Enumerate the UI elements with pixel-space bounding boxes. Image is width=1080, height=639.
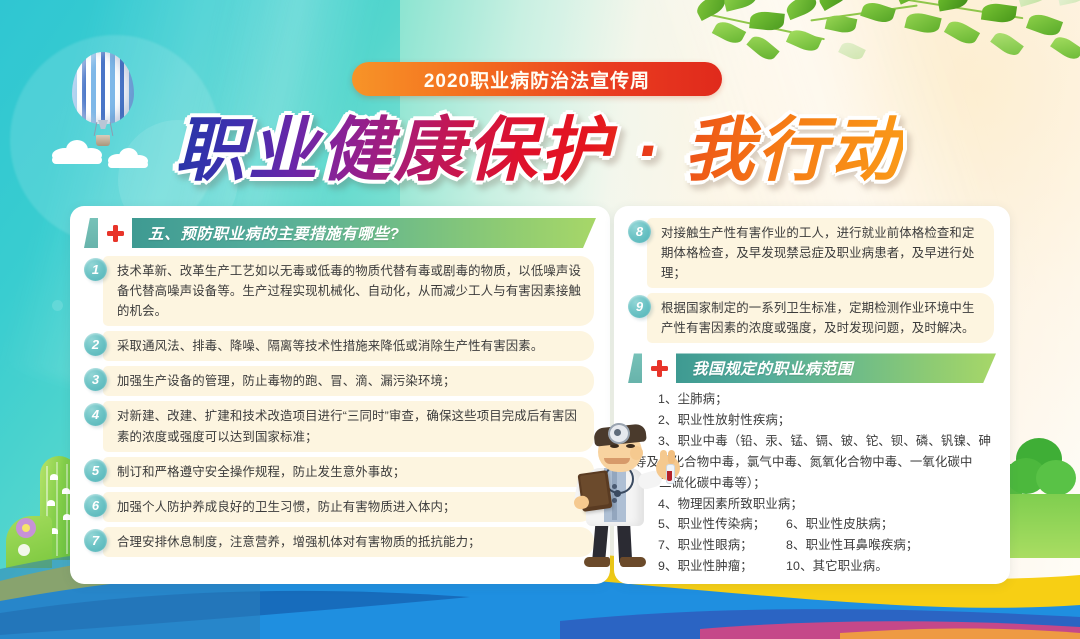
measure-item-text: 对新建、改建、扩建和技术改造项目进行“三同时”审查，确保这些项目完成后有害因素的… (103, 401, 594, 451)
prevention-measures-list-continued: 8对接触生产性有害作业的工人，进行就业前体格检查和定期体格检查，及早发现禁忌症及… (614, 206, 1010, 343)
measure-item: 8对接触生产性有害作业的工人，进行就业前体格检查和定期体格检查，及早发现禁忌症及… (628, 218, 994, 288)
measure-item: 7合理安排休息制度，注意营养，增强机体对有害物质的抵抗能力； (84, 527, 594, 557)
section-header-prevention: 五、预防职业病的主要措施有哪些? (84, 218, 596, 248)
measure-item-text: 合理安排休息制度，注意营养，增强机体对有害物质的抵抗能力； (103, 527, 594, 557)
campaign-banner: 2020职业病防治法宣传周 (352, 62, 722, 96)
section-header-bar: 五、预防职业病的主要措施有哪些? (132, 218, 596, 248)
scope-list-line: 1、尘肺病； (634, 389, 992, 410)
left-content-card: 五、预防职业病的主要措施有哪些? 1技术革新、改革生产工艺如以无毒或低毒的物质代… (70, 206, 610, 584)
measure-number-badge: 8 (628, 220, 651, 243)
measure-item: 5制订和严格遵守安全操作规程，防止发生意外事故； (84, 457, 594, 487)
balloon-rope (94, 122, 98, 136)
section-header-bar: 我国规定的职业病范围 (676, 353, 996, 383)
scope-list-item: 10、其它职业病。 (786, 556, 888, 577)
balloon-neck (98, 120, 108, 129)
measure-item: 9根据国家制定的一系列卫生标准，定期检测作业环境中生产性有害因素的浓度或强度，及… (628, 293, 994, 343)
measure-item: 2采取通风法、排毒、降噪、隔离等技术性措施来降低或消除生产性有害因素。 (84, 331, 594, 361)
hot-air-balloon-icon (72, 52, 134, 152)
measure-item-text: 加强生产设备的管理，防止毒物的跑、冒、滴、漏污染环境； (103, 366, 594, 396)
scope-list-item: 8、职业性耳鼻喉疾病； (786, 535, 918, 556)
measure-item-text: 对接触生产性有害作业的工人，进行就业前体格检查和定期体格检查，及早发现禁忌症及职… (647, 218, 994, 288)
prevention-measures-list: 1技术革新、改革生产工艺如以无毒或低毒的物质代替有毒或剧毒的物质，以低噪声设备代… (70, 248, 610, 557)
red-cross-icon (642, 353, 676, 383)
measure-number-badge: 5 (84, 459, 107, 482)
page-title-text: 职业健康保护 · 我行动 (175, 94, 903, 195)
scope-list-item: 6、职业性皮肤病； (786, 514, 893, 535)
measure-number-badge: 1 (84, 258, 107, 281)
poster-canvas: 2020职业病防治法宣传周 职业健康保护 · 我行动 五、预防职业病的主要措施有… (0, 0, 1080, 639)
page-title: 职业健康保护 · 我行动 (144, 100, 934, 188)
measure-item-text: 采取通风法、排毒、降噪、隔离等技术性措施来降低或消除生产性有害因素。 (103, 331, 594, 361)
measure-item: 6加强个人防护养成良好的卫生习惯，防止有害物质进入体内； (84, 492, 594, 522)
campaign-banner-text: 2020职业病防治法宣传周 (424, 66, 650, 93)
measure-item-text: 根据国家制定的一系列卫生标准，定期检测作业环境中生产性有害因素的浓度或强度，及时… (647, 293, 994, 343)
measure-item: 4对新建、改建、扩建和技术改造项目进行“三同时”审查，确保这些项目完成后有害因素… (84, 401, 594, 451)
red-cross-icon (98, 218, 132, 248)
doctor-illustration (568, 424, 694, 576)
section-header-tail (628, 353, 642, 383)
balloon-envelope (72, 52, 134, 124)
measure-item: 3加强生产设备的管理，防止毒物的跑、冒、滴、漏污染环境； (84, 366, 594, 396)
background-bokeh-dot (52, 300, 63, 311)
measure-number-badge: 7 (84, 529, 107, 552)
measure-number-badge: 6 (84, 494, 107, 517)
measure-item-text: 技术革新、改革生产工艺如以无毒或低毒的物质代替有毒或剧毒的物质，以低噪声设备代替… (103, 256, 594, 326)
measure-item-text: 加强个人防护养成良好的卫生习惯，防止有害物质进入体内； (103, 492, 594, 522)
section-header-scope: 我国规定的职业病范围 (628, 353, 996, 383)
section-heading-text: 我国规定的职业病范围 (692, 357, 853, 379)
balloon-basket (96, 135, 110, 146)
section-heading-text: 五、预防职业病的主要措施有哪些? (148, 222, 400, 244)
measure-item: 1技术革新、改革生产工艺如以无毒或低毒的物质代替有毒或剧毒的物质，以低噪声设备代… (84, 256, 594, 326)
section-header-tail (84, 218, 98, 248)
measure-item-text: 制订和严格遵守安全操作规程，防止发生意外事故； (103, 457, 594, 487)
balloon-rope (110, 122, 114, 136)
